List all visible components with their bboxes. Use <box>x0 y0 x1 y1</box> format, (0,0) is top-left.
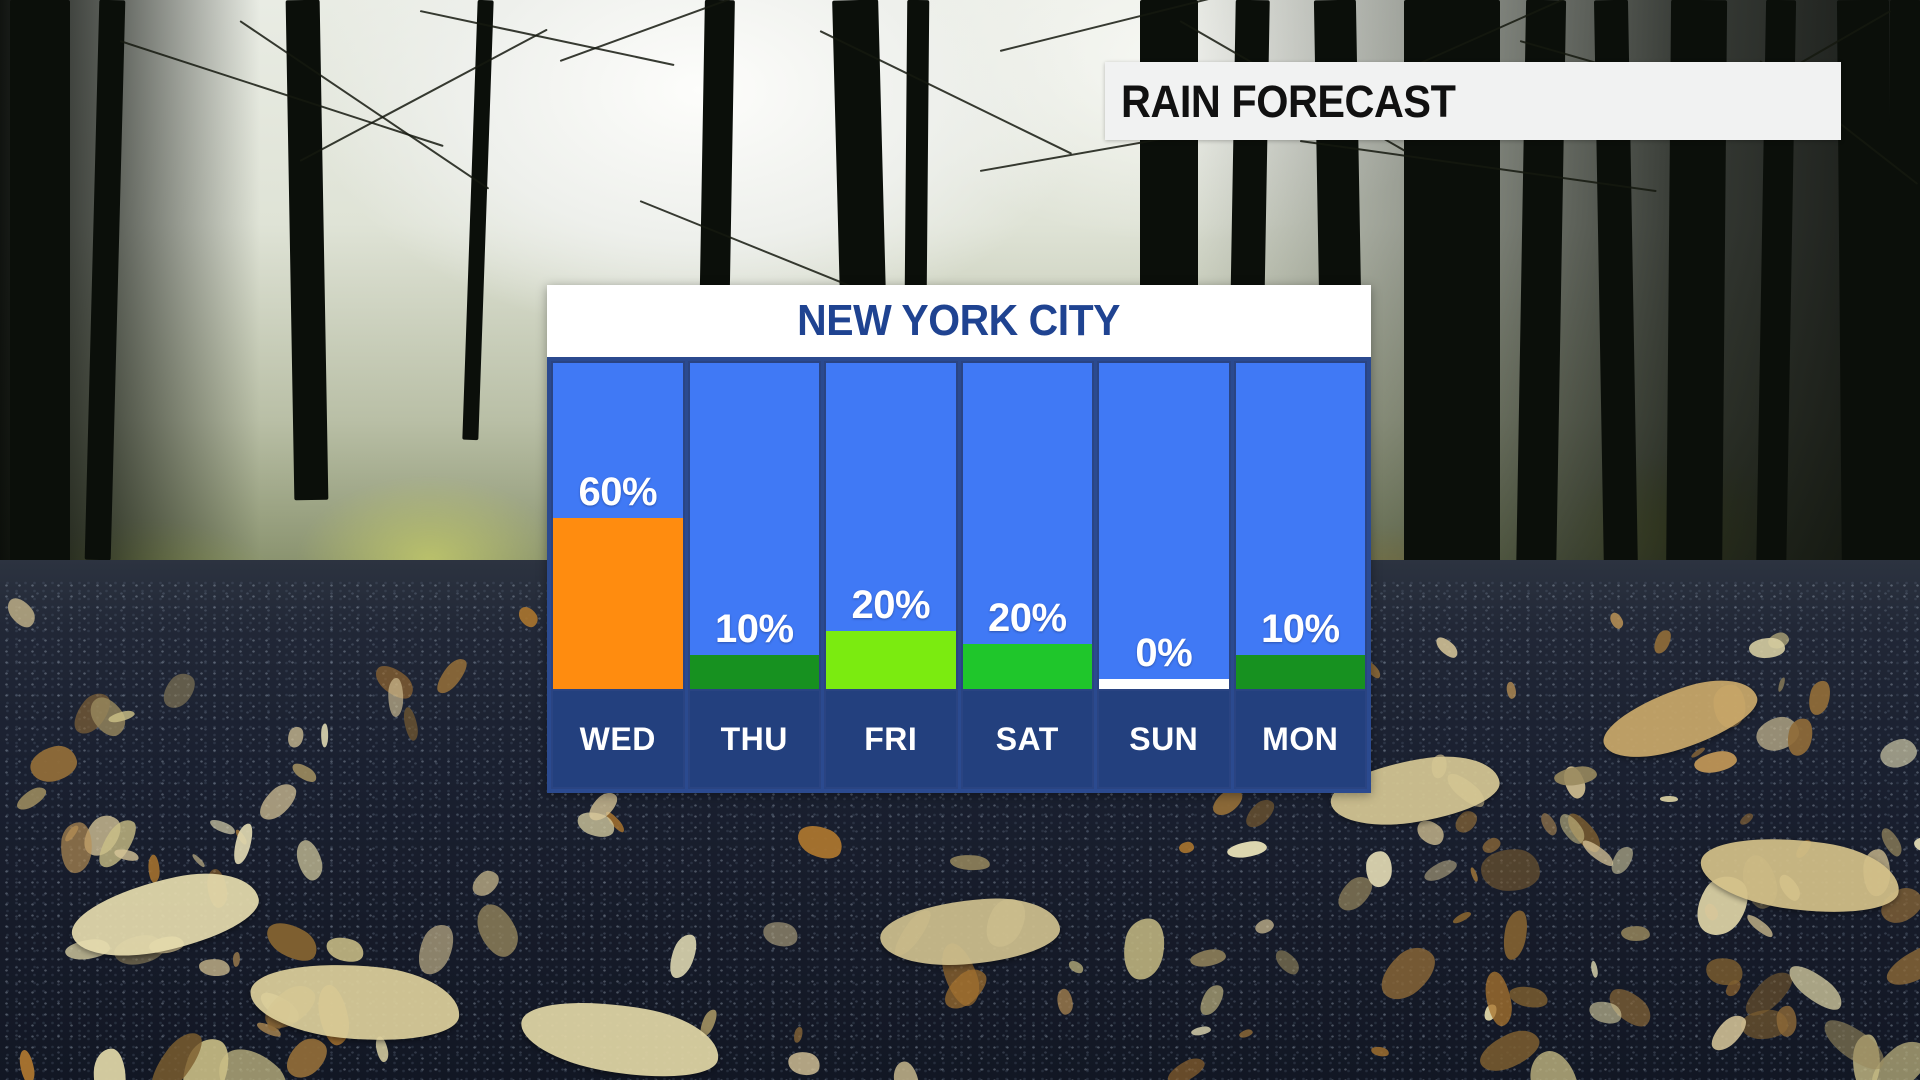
day-label: THU <box>721 723 788 755</box>
banner-title: RAIN FORECAST <box>1121 79 1455 124</box>
fallen-leaf <box>1660 796 1678 802</box>
rain-chance-value: 10% <box>1236 609 1366 649</box>
rain-chance-value: 20% <box>963 598 1093 638</box>
forecast-columns: 60%WED10%THU20%FRI20%SAT0%SUN10%MON <box>547 357 1371 793</box>
rain-chance-value: 10% <box>690 609 820 649</box>
forecast-day-column: 20%SAT <box>961 361 1095 789</box>
forecast-day-column: 60%WED <box>551 361 685 789</box>
forecast-panel: NEW YORK CITY 60%WED10%THU20%FRI20%SAT0%… <box>547 285 1371 793</box>
forecast-day-column: 10%MON <box>1234 361 1368 789</box>
location-title: NEW YORK CITY <box>798 299 1121 343</box>
rain-chance-bar <box>1236 655 1366 691</box>
day-label: MON <box>1262 723 1338 755</box>
rain-chance-value: 0% <box>1099 633 1229 673</box>
forecast-day-column: 20%FRI <box>824 361 958 789</box>
day-label: FRI <box>864 723 917 755</box>
fallen-leaf <box>388 678 403 717</box>
fallen-leaf <box>1480 848 1540 892</box>
rain-chance-bar <box>963 644 1093 691</box>
rain-chance-bar <box>690 655 820 691</box>
forecast-day-column: 10%THU <box>688 361 822 789</box>
day-label-cell: MON <box>1236 689 1366 787</box>
rain-chance-value: 20% <box>826 585 956 625</box>
day-label: SAT <box>996 723 1059 755</box>
day-label-cell: SUN <box>1099 689 1229 787</box>
day-label-cell: FRI <box>826 689 956 787</box>
forecast-day-column: 0%SUN <box>1097 361 1231 789</box>
rain-chance-value: 60% <box>553 472 683 512</box>
rain-chance-bar <box>553 518 683 691</box>
day-label-cell: WED <box>553 689 683 787</box>
day-label: SUN <box>1129 723 1198 755</box>
rain-forecast-banner: RAIN FORECAST <box>1105 62 1841 140</box>
day-label-cell: SAT <box>963 689 1093 787</box>
day-label-cell: THU <box>690 689 820 787</box>
rain-chance-bar <box>826 631 956 691</box>
tree-trunk <box>10 0 70 640</box>
day-label: WED <box>580 723 656 755</box>
panel-header: NEW YORK CITY <box>547 285 1371 357</box>
